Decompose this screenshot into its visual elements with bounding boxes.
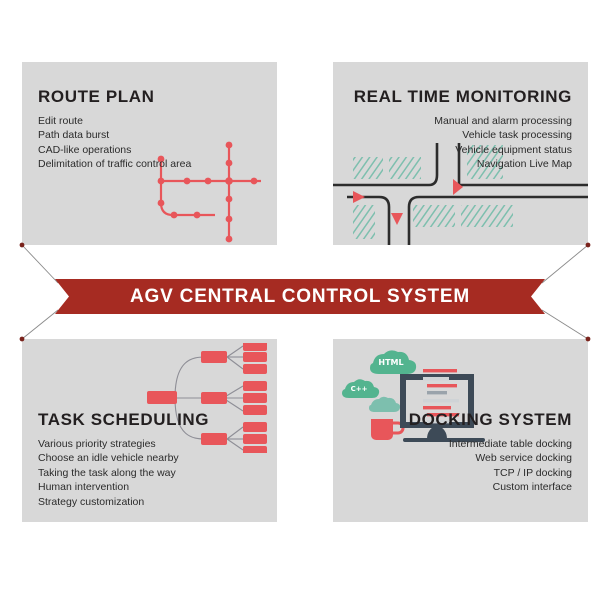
docking-system-title: DOCKING SYSTEM [409,411,572,430]
list-item: Manual and alarm processing [354,114,572,129]
cloud-cpp-icon: C++ [342,379,379,398]
real-time-monitoring-text-block: REAL TIME MONITORING Manual and alarm pr… [354,88,572,172]
list-item: Strategy customization [38,495,209,510]
svg-text:C++: C++ [351,385,368,393]
coffee-mug-icon [371,419,403,440]
route-plan-feature-list: Edit route Path data burst CAD-like oper… [38,114,191,172]
panel-real-time-monitoring[interactable]: REAL TIME MONITORING Manual and alarm pr… [333,62,588,245]
task-scheduling-text-block: TASK SCHEDULING Various priority strateg… [38,411,209,509]
real-time-monitoring-feature-list: Manual and alarm processing Vehicle task… [354,114,572,172]
list-item: Intermediate table docking [409,437,572,452]
central-banner[interactable]: AGV CENTRAL CONTROL SYSTEM [55,279,545,314]
route-plan-title: ROUTE PLAN [38,88,191,107]
svg-text:HTML: HTML [378,358,403,367]
list-item: TCP / IP docking [409,466,572,481]
list-item: CAD-like operations [38,143,191,158]
route-plan-text-block: ROUTE PLAN Edit route Path data burst CA… [38,88,191,172]
list-item: Edit route [38,114,191,129]
panel-docking-system[interactable]: HTML C++ [333,339,588,522]
central-banner-label: AGV CENTRAL CONTROL SYSTEM [55,279,545,314]
list-item: Various priority strategies [38,437,209,452]
task-scheduling-feature-list: Various priority strategies Choose an id… [38,437,209,510]
list-item: Path data burst [38,128,191,143]
list-item: Delimitation of traffic control area [38,157,191,172]
list-item: Web service docking [409,451,572,466]
list-item: Custom interface [409,480,572,495]
list-item: Navigation Live Map [354,157,572,172]
docking-system-feature-list: Intermediate table docking Web service d… [409,437,572,495]
list-item: Human intervention [38,480,209,495]
infographic-canvas: ROUTE PLAN Edit route Path data burst CA… [0,0,600,600]
task-scheduling-title: TASK SCHEDULING [38,411,209,430]
cloud-html-icon: HTML [370,350,416,374]
list-item: Taking the task along the way [38,466,209,481]
panel-route-plan[interactable]: ROUTE PLAN Edit route Path data burst CA… [22,62,277,245]
list-item: Choose an idle vehicle nearby [38,451,209,466]
real-time-monitoring-title: REAL TIME MONITORING [354,88,572,107]
docking-system-text-block: DOCKING SYSTEM Intermediate table dockin… [409,411,572,495]
cloud-small-icon [369,397,400,412]
list-item: Vehicle task processing [354,128,572,143]
panel-task-scheduling[interactable]: TASK SCHEDULING Various priority strateg… [22,339,277,522]
list-item: Vehicle equipment status [354,143,572,158]
